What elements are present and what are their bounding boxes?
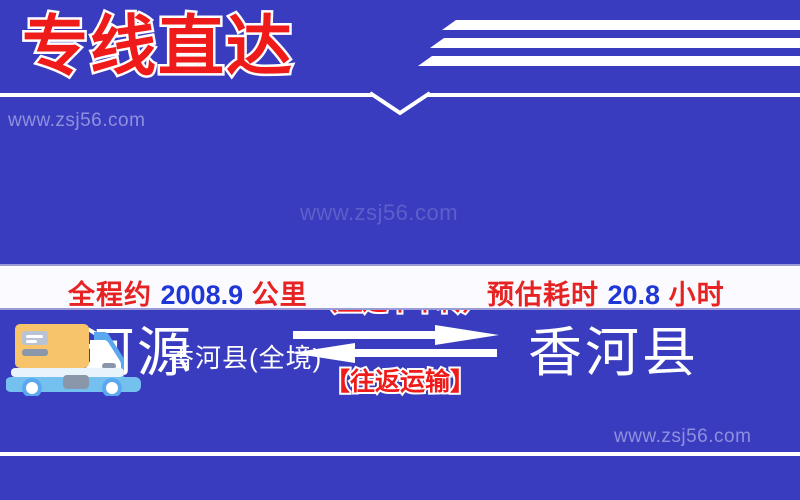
info-band: 全程约 2008.9 公里 预估耗时 20.8 小时 (0, 264, 800, 310)
header-stripe-2 (430, 38, 800, 48)
footer-band: 公司地址：物流园区（请咨询我公司客服发详细定位） (0, 456, 800, 500)
header-stripe-1 (442, 20, 800, 30)
poster-header: 专线直达 (0, 0, 800, 100)
coverage-section: 香河县(全境) (0, 316, 800, 396)
watermark-bottom: www.zsj56.com (614, 426, 751, 448)
duration-prefix-label: 预估耗时 (487, 280, 599, 310)
divider-line-left (0, 93, 373, 97)
divider-line-right (427, 93, 800, 97)
page-title: 专线直达 (22, 2, 294, 90)
distance-info: 全程约 2008.9 公里 (68, 273, 308, 312)
duration-unit-label: 小时 (669, 280, 725, 310)
chevron-down-icon (368, 91, 432, 117)
duration-info: 预估耗时 20.8 小时 (487, 273, 725, 312)
header-stripe-3 (418, 56, 800, 66)
distance-unit-label: 公里 (252, 280, 308, 310)
duration-value: 20.8 (608, 280, 661, 310)
watermark-top: www.zsj56.com (8, 110, 145, 132)
logistics-route-poster: 专线直达 www.zsj56.com www.zsj56.com www.zsj… (0, 0, 800, 500)
distance-prefix-label: 全程约 (68, 280, 152, 310)
coverage-area-label: 香河县(全境) (168, 338, 322, 375)
delivery-truck-icon (6, 318, 151, 396)
route-section: （直达不中转） 【往返运输】 河源 香河县 (0, 140, 800, 260)
distance-value: 2008.9 (161, 280, 244, 310)
